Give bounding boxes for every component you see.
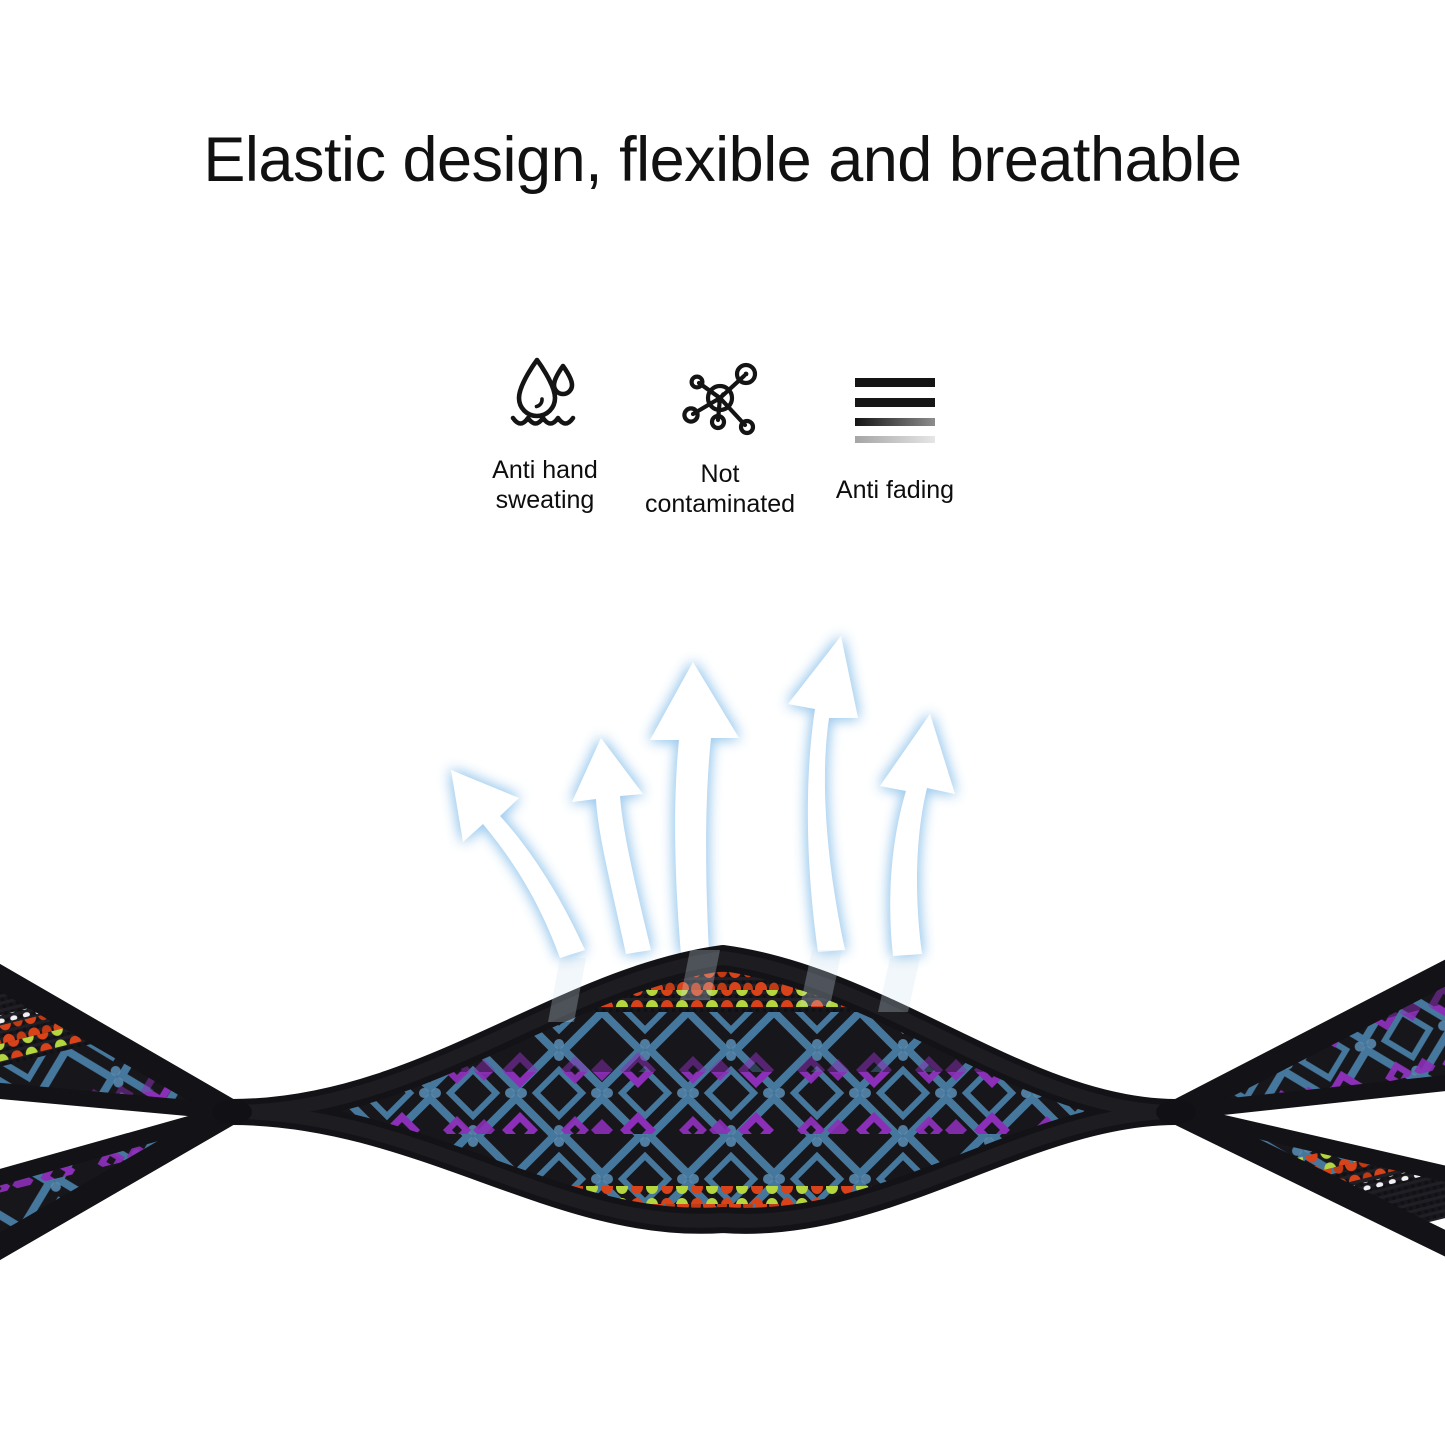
feature-label: Anti handsweating — [455, 456, 635, 515]
feature-list: Anti handsweating — [455, 348, 995, 548]
feature-label-line1: Anti fading — [836, 476, 954, 504]
feature-label-line1: Anti hand — [492, 456, 598, 484]
airflow-arrows — [451, 636, 955, 958]
feature-label: Notcontaminated — [630, 460, 810, 519]
feature-label-line2: sweating — [496, 486, 595, 514]
feature-item-anti-hand-sweating: Anti handsweating — [455, 348, 635, 515]
feature-label-line2: contaminated — [645, 490, 795, 518]
feature-label: Anti fading — [805, 476, 985, 506]
fading-bars-icon — [805, 358, 985, 454]
product-feature-image: Elastic design, flexible and breathable — [0, 0, 1445, 1445]
feature-item-not-contaminated: Notcontaminated — [630, 352, 810, 519]
feature-item-anti-fading: Anti fading — [805, 358, 985, 506]
page-title: Elastic design, flexible and breathable — [0, 126, 1445, 195]
water-drop-waves-icon — [455, 348, 635, 444]
molecule-icon — [630, 352, 810, 448]
feature-label-line1: Not — [701, 460, 740, 488]
woven-elastic-band-with-airflow-arrows — [0, 620, 1445, 1260]
